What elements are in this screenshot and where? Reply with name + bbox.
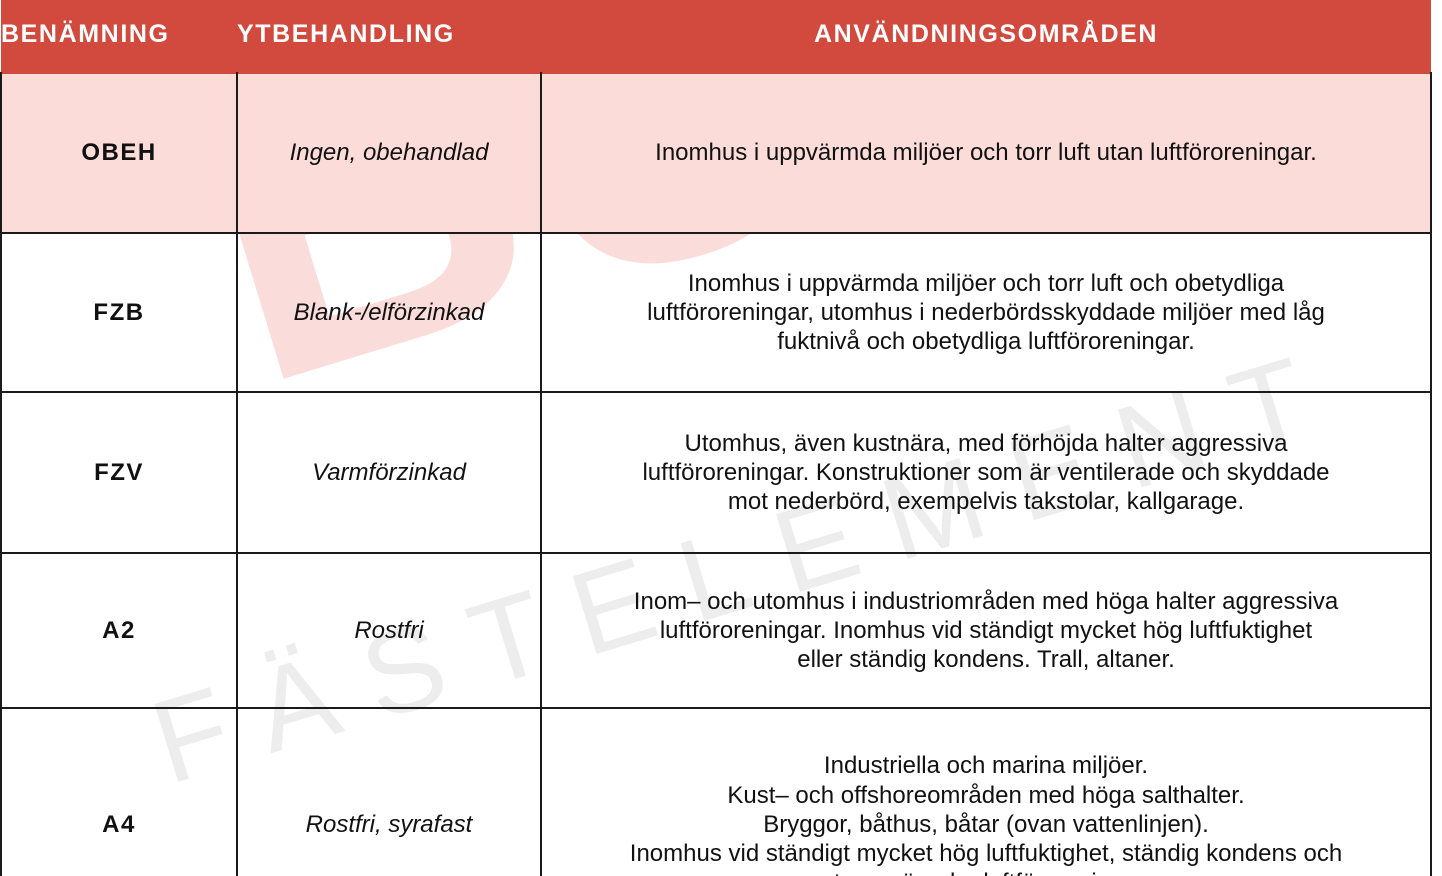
cell-usage: Inom– och utomhus i industriområden med … <box>541 553 1431 708</box>
surface-treatment-table: BENÄMNING YTBEHANDLING ANVÄNDNINGSOMRÅDE… <box>0 0 1432 876</box>
cell-usage: Industriella och marina miljöer. Kust– o… <box>541 708 1431 876</box>
table-row: A2 Rostfri Inom– och utomhus i industrio… <box>1 553 1431 708</box>
cell-usage: Inomhus i uppvärmda miljöer och torr luf… <box>541 233 1431 392</box>
column-header-benamning: BENÄMNING <box>1 0 237 73</box>
usage-line: luftföroreningar. Konstruktioner som är … <box>556 458 1416 487</box>
cell-code: A4 <box>1 708 237 876</box>
usage-line: Inom– och utomhus i industriområden med … <box>556 587 1416 616</box>
cell-usage: Utomhus, även kustnära, med förhöjda hal… <box>541 392 1431 553</box>
cell-code: FZV <box>1 392 237 553</box>
table-row: OBEH Ingen, obehandlad Inomhus i uppvärm… <box>1 73 1431 233</box>
table-row: A4 Rostfri, syrafast Industriella och ma… <box>1 708 1431 876</box>
cell-surface: Blank-/elförzinkad <box>237 233 541 392</box>
usage-line: fuktnivå och obetydliga luftföroreningar… <box>556 327 1416 356</box>
table-body: OBEH Ingen, obehandlad Inomhus i uppvärm… <box>1 73 1431 876</box>
table-header-row: BENÄMNING YTBEHANDLING ANVÄNDNINGSOMRÅDE… <box>1 0 1431 73</box>
usage-line: stora mängder luftföroreningar. <box>556 868 1416 876</box>
cell-surface: Rostfri, syrafast <box>237 708 541 876</box>
usage-line: Kust– och offshoreområden med höga salth… <box>556 781 1416 810</box>
cell-surface: Varmförzinkad <box>237 392 541 553</box>
usage-line: luftföroreningar, utomhus i nederbördssk… <box>556 298 1416 327</box>
usage-line: mot nederbörd, exempelvis takstolar, kal… <box>556 487 1416 516</box>
usage-line: Industriella och marina miljöer. <box>556 751 1416 780</box>
usage-line: Bryggor, båthus, båtar (ovan vattenlinje… <box>556 810 1416 839</box>
column-header-ytbehandling: YTBEHANDLING <box>237 0 541 73</box>
cell-surface: Ingen, obehandlad <box>237 73 541 233</box>
cell-usage: Inomhus i uppvärmda miljöer och torr luf… <box>541 73 1431 233</box>
usage-line: Inomhus i uppvärmda miljöer och torr luf… <box>556 269 1416 298</box>
surface-treatment-table-page: BULTAB FÄSTELEMENT BENÄMNING YTBEHANDLIN… <box>0 0 1442 876</box>
table-header: BENÄMNING YTBEHANDLING ANVÄNDNINGSOMRÅDE… <box>1 0 1431 73</box>
usage-line: eller ständig kondens. Trall, altaner. <box>556 645 1416 674</box>
usage-line: Inomhus i uppvärmda miljöer och torr luf… <box>556 138 1416 167</box>
table-row: FZB Blank-/elförzinkad Inomhus i uppvärm… <box>1 233 1431 392</box>
cell-surface: Rostfri <box>237 553 541 708</box>
column-header-anvandningsomraden: ANVÄNDNINGSOMRÅDEN <box>541 0 1431 73</box>
table-row: FZV Varmförzinkad Utomhus, även kustnära… <box>1 392 1431 553</box>
cell-code: A2 <box>1 553 237 708</box>
usage-line: Utomhus, även kustnära, med förhöjda hal… <box>556 429 1416 458</box>
table-container: BENÄMNING YTBEHANDLING ANVÄNDNINGSOMRÅDE… <box>0 0 1430 876</box>
cell-code: FZB <box>1 233 237 392</box>
usage-line: Inomhus vid ständigt mycket hög luftfukt… <box>556 839 1416 868</box>
usage-line: luftföroreningar. Inomhus vid ständigt m… <box>556 616 1416 645</box>
cell-code: OBEH <box>1 73 237 233</box>
